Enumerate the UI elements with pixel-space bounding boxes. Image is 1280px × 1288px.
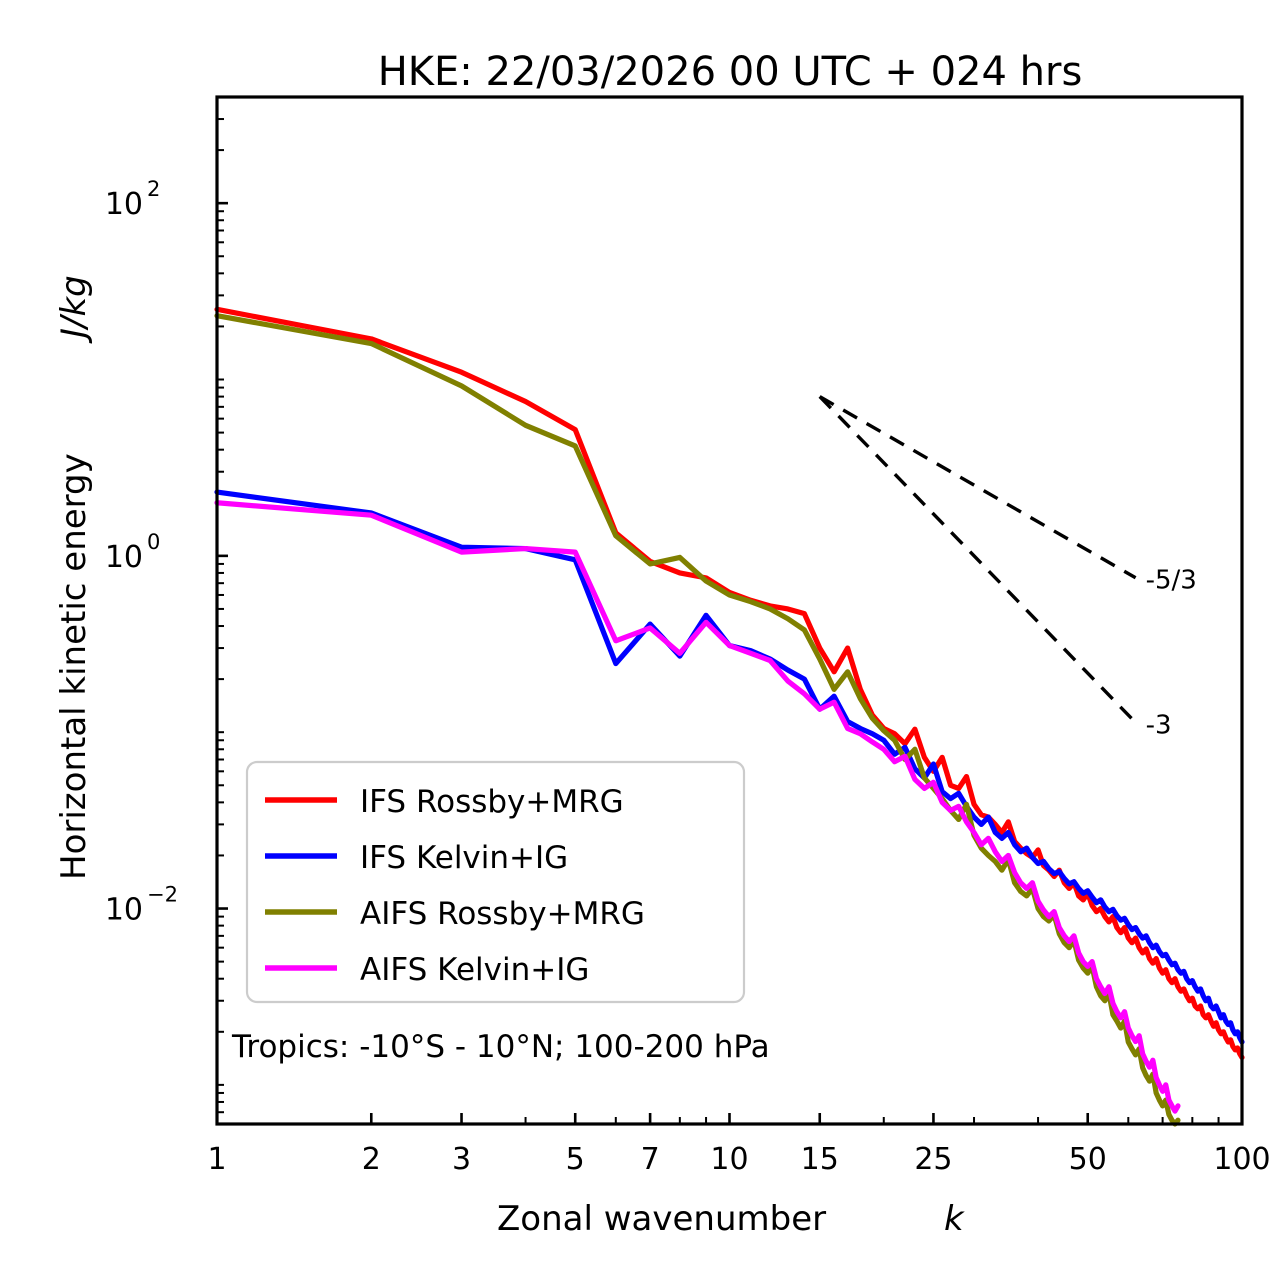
hke-spectrum-chart: HKE: 22/03/2026 00 UTC + 024 hrs Horizon… xyxy=(0,0,1280,1288)
legend-label-2: AIFS Rossby+MRG xyxy=(360,896,645,932)
x-tick-label: 5 xyxy=(566,1142,585,1177)
y-tick-label-base: 10 xyxy=(105,893,143,928)
slope-reference-label--3: -3 xyxy=(1146,711,1172,741)
y-axis-label-units: J/kg xyxy=(54,275,94,344)
x-tick-label: 25 xyxy=(914,1142,952,1177)
x-tick-label: 10 xyxy=(710,1142,748,1177)
slope-reference-label--5-3: -5/3 xyxy=(1146,566,1197,596)
region-annotation: Tropics: -10°S - 10°N; 100-200 hPa xyxy=(231,1029,770,1065)
y-tick-label-exponent: 2 xyxy=(147,177,160,201)
x-tick-label: 2 xyxy=(362,1142,381,1177)
y-tick-label-exponent: 0 xyxy=(147,530,160,554)
legend-label-3: AIFS Kelvin+IG xyxy=(360,952,589,988)
chart-legend[interactable]: IFS Rossby+MRGIFS Kelvin+IGAIFS Rossby+M… xyxy=(247,762,744,1002)
y-tick-label-exponent: −2 xyxy=(147,883,178,907)
y-tick-label-base: 10 xyxy=(105,540,143,575)
legend-label-0: IFS Rossby+MRG xyxy=(360,784,624,820)
x-axis-label-main: Zonal wavenumber xyxy=(497,1199,826,1239)
x-tick-label: 100 xyxy=(1213,1142,1270,1177)
x-tick-label: 1 xyxy=(207,1142,226,1177)
y-axis-label-main: Horizontal kinetic energy xyxy=(54,453,94,880)
x-tick-label: 3 xyxy=(452,1142,471,1177)
x-tick-label: 50 xyxy=(1069,1142,1107,1177)
x-axis-label-symbol: k xyxy=(944,1199,965,1239)
chart-title: HKE: 22/03/2026 00 UTC + 024 hrs xyxy=(378,49,1083,95)
y-tick-label-base: 10 xyxy=(105,187,143,222)
chart-background xyxy=(0,0,1280,1288)
x-tick-label: 15 xyxy=(801,1142,839,1177)
legend-label-1: IFS Kelvin+IG xyxy=(360,840,568,876)
x-tick-label: 7 xyxy=(641,1142,660,1177)
chart-page: HKE: 22/03/2026 00 UTC + 024 hrs Horizon… xyxy=(0,0,1280,1288)
